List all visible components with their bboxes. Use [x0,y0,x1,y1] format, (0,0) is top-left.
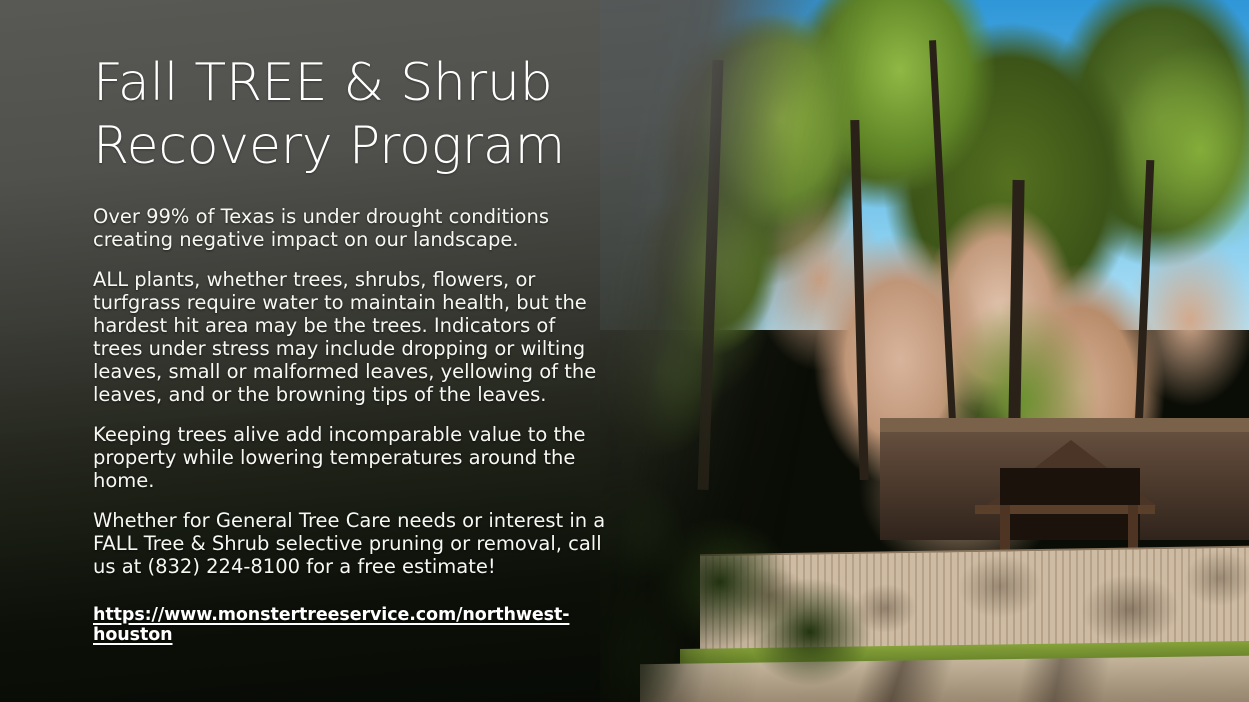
paragraph-tree-value: Keeping trees alive add incomparable val… [93,423,609,492]
link-container: https://www.monstertreeservice.com/north… [93,605,613,645]
paragraph-drought: Over 99% of Texas is under drought condi… [93,205,609,251]
content-column: Fall TREE & Shrub Recovery Program Over … [93,0,613,702]
page-title: Fall TREE & Shrub Recovery Program [93,52,613,179]
website-link[interactable]: https://www.monstertreeservice.com/north… [93,605,613,645]
paragraph-plant-stress: ALL plants, whether trees, shrubs, flowe… [93,268,609,406]
body-copy: Over 99% of Texas is under drought condi… [93,205,613,578]
promo-slide: Fall TREE & Shrub Recovery Program Over … [0,0,1249,702]
paragraph-call-to-action: Whether for General Tree Care needs or i… [93,509,609,578]
